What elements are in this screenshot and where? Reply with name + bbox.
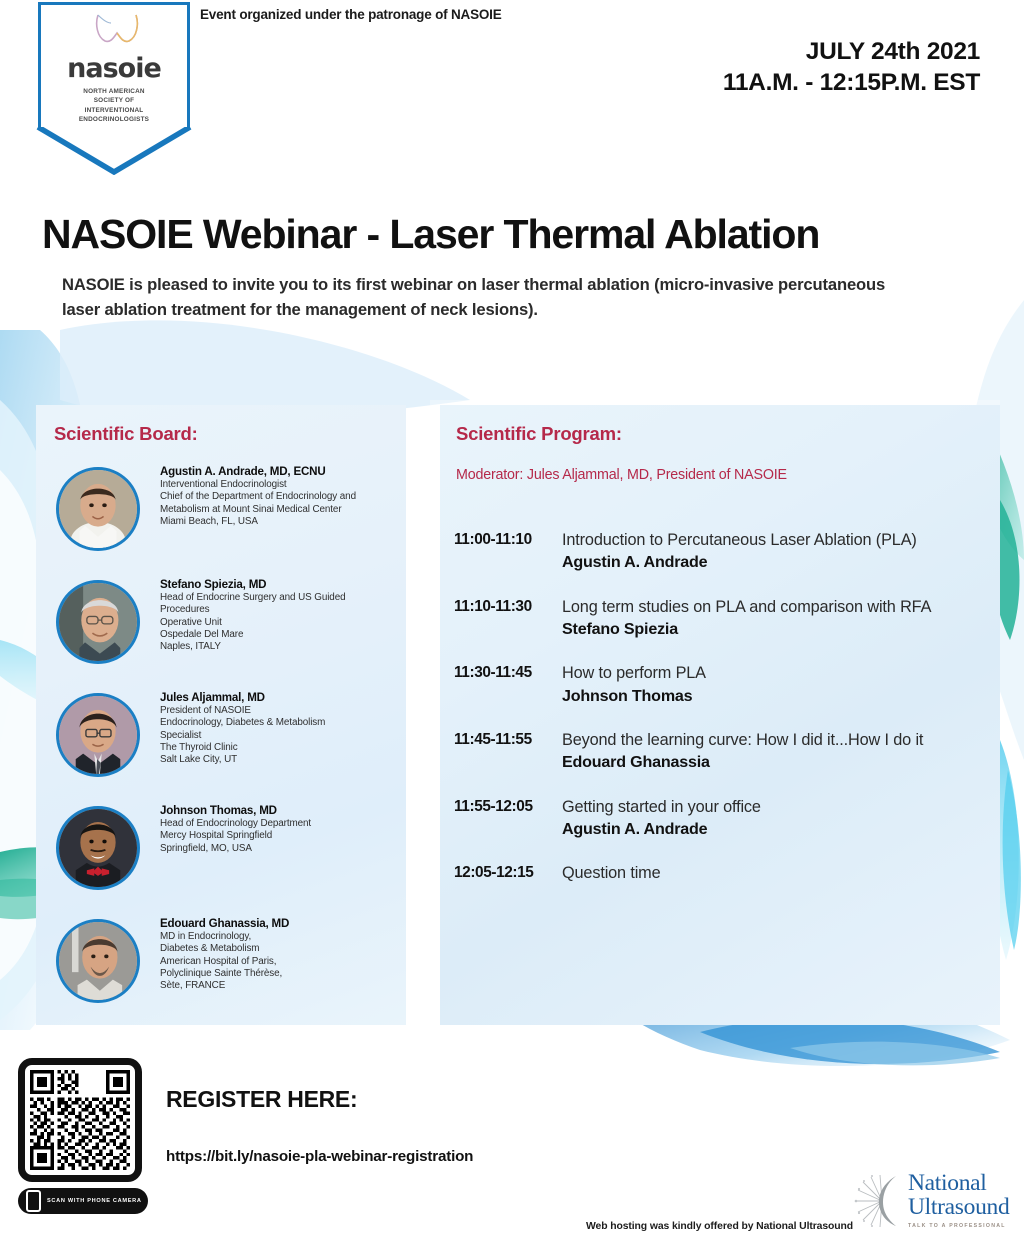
session-title: Introduction to Percutaneous Laser Ablat…: [562, 529, 988, 551]
qr-code-block[interactable]: SCAN WITH PHONE CAMERA: [18, 1058, 158, 1214]
portrait-jules-aljammal: [59, 696, 137, 774]
scan-with-phone-badge: SCAN WITH PHONE CAMERA: [18, 1188, 148, 1214]
avatar: [56, 693, 140, 777]
scientific-program-panel: Scientific Program: Moderator: Jules Alj…: [440, 405, 1000, 1025]
registration-link[interactable]: https://bit.ly/nasoie-pla-webinar-regist…: [166, 1148, 473, 1165]
thyroid-gland-icon: [91, 11, 143, 47]
session-list: 11:00-11:10 Introduction to Percutaneous…: [454, 529, 988, 907]
event-time: 11A.M. - 12:15P.M. EST: [723, 67, 980, 98]
qr-code-icon: [30, 1070, 130, 1170]
avatar: [56, 919, 140, 1003]
member-role: MD in Endocrinology, Diabetes & Metaboli…: [160, 931, 400, 992]
session-time: 11:30-11:45: [454, 662, 562, 683]
session-item: 11:45-11:55 Beyond the learning curve: H…: [454, 729, 988, 774]
hosting-credit: Web hosting was kindly offered by Nation…: [586, 1221, 853, 1232]
board-member: Jules Aljammal, MD President of NASOIE E…: [36, 689, 406, 802]
logo-wordmark: nasoie: [41, 55, 187, 82]
nasoie-logo: nasoie NORTH AMERICAN SOCIETY OF INTERVE…: [38, 2, 190, 130]
portrait-johnson-thomas: [59, 809, 137, 887]
session-title: How to perform PLA: [562, 662, 988, 684]
logo-subtitle: NORTH AMERICAN SOCIETY OF INTERVENTIONAL…: [41, 87, 187, 124]
scientific-board-heading: Scientific Board:: [54, 423, 198, 445]
session-item: 12:05-12:15 Question time: [454, 862, 988, 884]
portrait-agustin-andrade: [59, 470, 137, 548]
session-item: 11:30-11:45 How to perform PLA Johnson T…: [454, 662, 988, 707]
session-item: 11:10-11:30 Long term studies on PLA and…: [454, 596, 988, 641]
session-speaker: Agustin A. Andrade: [562, 551, 988, 574]
session-item: 11:00-11:10 Introduction to Percutaneous…: [454, 529, 988, 574]
header: nasoie NORTH AMERICAN SOCIETY OF INTERVE…: [0, 0, 1024, 150]
national-ultrasound-logo: National Ultrasound TALK TO A PROFESSION…: [852, 1172, 1012, 1234]
session-title: Question time: [562, 862, 988, 884]
sponsor-name-line-1: National: [908, 1172, 1009, 1196]
session-speaker: Stefano Spiezia: [562, 618, 988, 641]
session-time: 11:55-12:05: [454, 796, 562, 817]
sunburst-crescent-icon: [852, 1174, 910, 1228]
session-item: 11:55-12:05 Getting started in your offi…: [454, 796, 988, 841]
session-speaker: Johnson Thomas: [562, 685, 988, 708]
flyer-page: nasoie NORTH AMERICAN SOCIETY OF INTERVE…: [0, 0, 1024, 1244]
sponsor-name-line-2: Ultrasound: [908, 1196, 1009, 1220]
scientific-program-heading: Scientific Program:: [456, 423, 622, 445]
member-name: Agustin A. Andrade, MD, ECNU: [160, 465, 400, 478]
member-role: Head of Endocrinology Department Mercy H…: [160, 818, 400, 855]
member-role: Interventional Endocrinologist Chief of …: [160, 479, 400, 528]
register-heading: REGISTER HERE:: [166, 1086, 357, 1113]
qr-code[interactable]: [18, 1058, 142, 1182]
board-member: Stefano Spiezia, MD Head of Endocrine Su…: [36, 576, 406, 689]
logo-subtitle-line-4: ENDOCRINOLOGISTS: [41, 115, 187, 124]
patronage-text: Event organized under the patronage of N…: [200, 7, 502, 22]
board-member: Agustin A. Andrade, MD, ECNU Interventio…: [36, 463, 406, 576]
avatar: [56, 806, 140, 890]
moderator-line: Moderator: Jules Aljammal, MD, President…: [456, 467, 787, 483]
board-member: Edouard Ghanassia, MD MD in Endocrinolog…: [36, 915, 406, 1028]
board-member: Johnson Thomas, MD Head of Endocrinology…: [36, 802, 406, 915]
portrait-edouard-ghanassia: [59, 922, 137, 1000]
member-name: Stefano Spiezia, MD: [160, 578, 400, 591]
scientific-board-panel: Scientific Board:: [36, 405, 406, 1025]
member-name: Johnson Thomas, MD: [160, 804, 400, 817]
session-title: Beyond the learning curve: How I did it.…: [562, 729, 988, 751]
member-name: Jules Aljammal, MD: [160, 691, 400, 704]
board-member-list: Agustin A. Andrade, MD, ECNU Interventio…: [36, 463, 406, 1028]
page-title: NASOIE Webinar - Laser Thermal Ablation: [42, 211, 819, 258]
session-time: 11:00-11:10: [454, 529, 562, 550]
logo-subtitle-line-3: INTERVENTIONAL: [41, 106, 187, 115]
session-speaker: Agustin A. Andrade: [562, 818, 988, 841]
avatar: [56, 580, 140, 664]
session-time: 12:05-12:15: [454, 862, 562, 883]
member-role: President of NASOIE Endocrinology, Diabe…: [160, 705, 400, 766]
session-speaker: Edouard Ghanassia: [562, 751, 988, 774]
session-title: Getting started in your office: [562, 796, 988, 818]
session-time: 11:10-11:30: [454, 596, 562, 617]
session-time: 11:45-11:55: [454, 729, 562, 750]
avatar: [56, 467, 140, 551]
member-role: Head of Endocrine Surgery and US Guided …: [160, 592, 400, 653]
sponsor-tagline: TALK TO A PROFESSIONAL: [908, 1223, 1009, 1229]
shield-point: [35, 127, 193, 175]
intro-paragraph: NASOIE is pleased to invite you to its f…: [62, 272, 892, 324]
member-name: Edouard Ghanassia, MD: [160, 917, 400, 930]
event-datetime: JULY 24th 2021 11A.M. - 12:15P.M. EST: [723, 36, 980, 99]
logo-subtitle-line-2: SOCIETY OF: [41, 96, 187, 105]
event-date: JULY 24th 2021: [723, 36, 980, 67]
sponsor-wordmark: National Ultrasound TALK TO A PROFESSION…: [908, 1172, 1009, 1229]
phone-icon: [26, 1190, 41, 1212]
session-title: Long term studies on PLA and comparison …: [562, 596, 988, 618]
logo-subtitle-line-1: NORTH AMERICAN: [41, 87, 187, 96]
portrait-stefano-spiezia: [59, 583, 137, 661]
scan-label: SCAN WITH PHONE CAMERA: [47, 1198, 142, 1204]
